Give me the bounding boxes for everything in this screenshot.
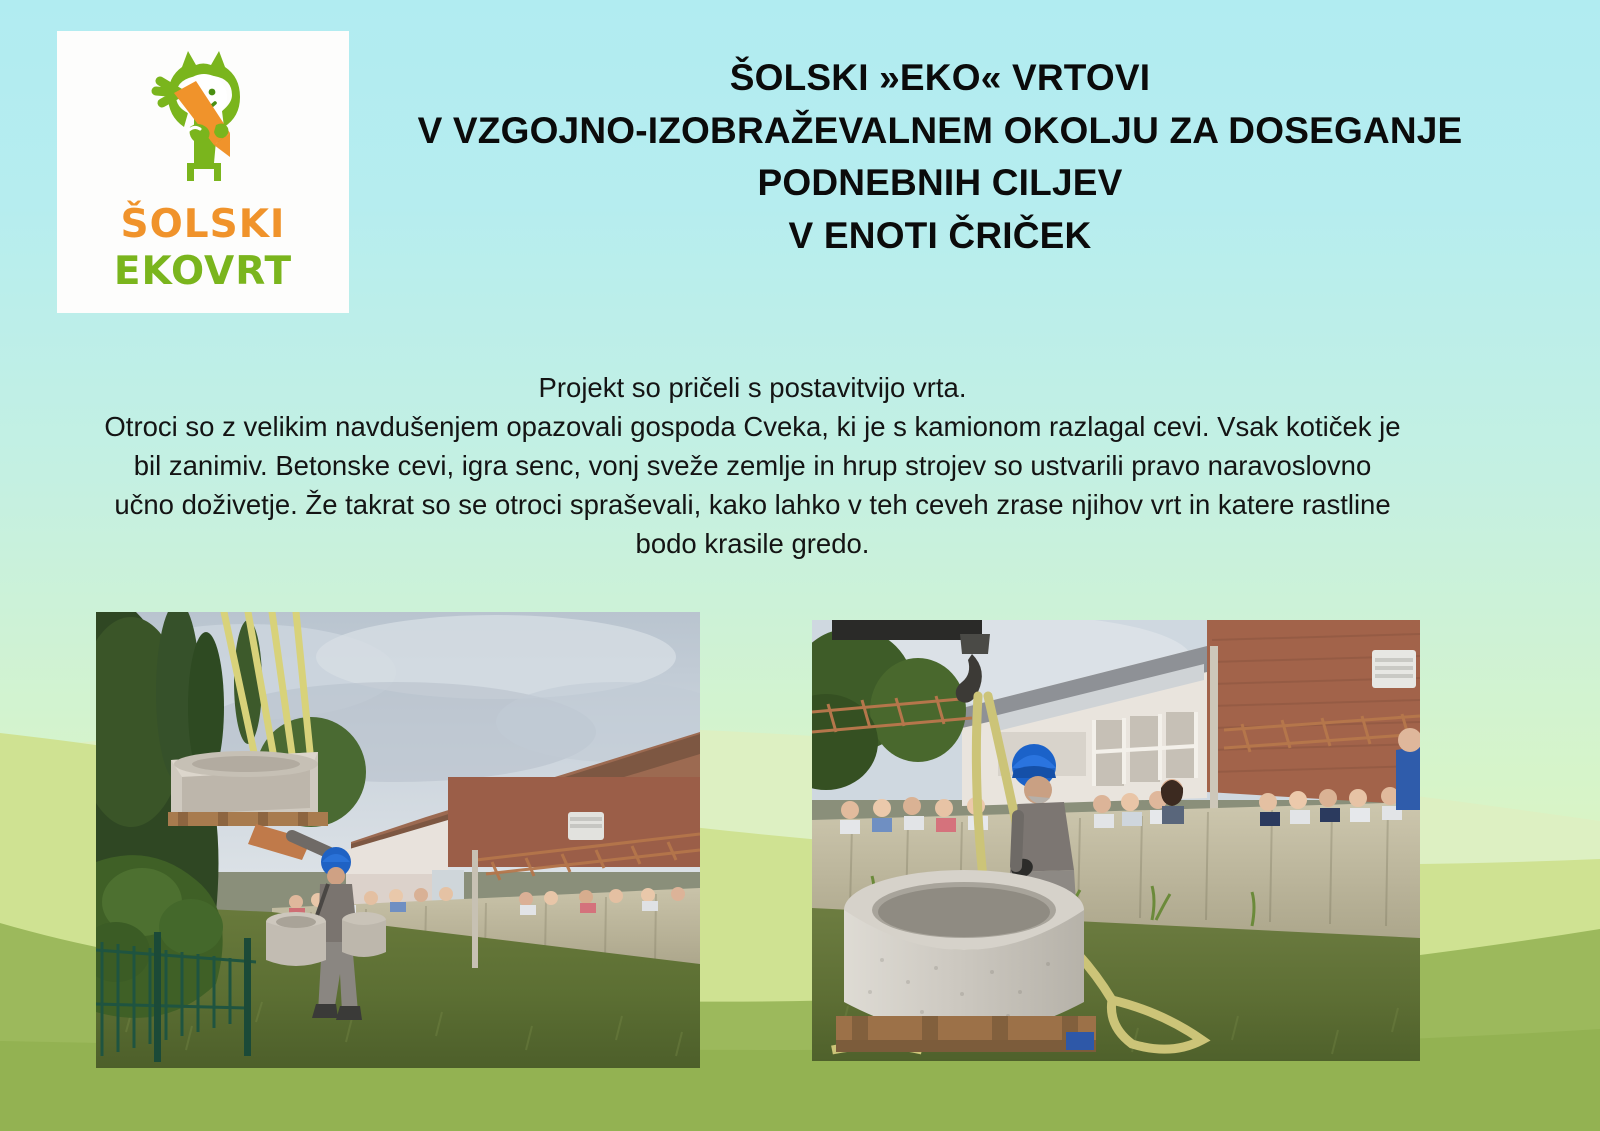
logo-word-ekovrt: EKOVRT [114, 252, 292, 291]
title-line-2: V VZGOJNO-IZOBRAŽEVALNEM OKOLJU ZA DOSEG… [360, 105, 1520, 158]
solski-ekovrt-logo-icon [118, 45, 288, 203]
body-line-4: učno doživetje. Že takrat so se otroci s… [60, 485, 1445, 524]
logo-card: ŠOLSKI EKOVRT [57, 31, 349, 313]
slide-title: ŠOLSKI »EKO« VRTOVI V VZGOJNO-IZOBRAŽEVA… [360, 52, 1520, 262]
body-line-1: Projekt so pričeli s postavitvijo vrta. [60, 368, 1445, 407]
photo-concrete-ring-on-pallet [812, 620, 1420, 1061]
presentation-slide: ŠOLSKI EKOVRT ŠOLSKI »EKO« VRTOVI V VZGO… [0, 0, 1600, 1131]
body-line-5: bodo krasile gredo. [60, 524, 1445, 563]
title-line-4: V ENOTI ČRIČEK [360, 210, 1520, 263]
photo-crane-lifting-concrete-pipe [96, 612, 700, 1068]
body-line-3: bil zanimiv. Betonske cevi, igra senc, v… [60, 446, 1445, 485]
title-line-3: PODNEBNIH CILJEV [360, 157, 1520, 210]
slide-body-text: Projekt so pričeli s postavitvijo vrta. … [60, 368, 1445, 563]
body-line-2: Otroci so z velikim navdušenjem opazoval… [60, 407, 1445, 446]
logo-word-solski: ŠOLSKI [121, 205, 286, 244]
title-line-1: ŠOLSKI »EKO« VRTOVI [360, 52, 1520, 105]
